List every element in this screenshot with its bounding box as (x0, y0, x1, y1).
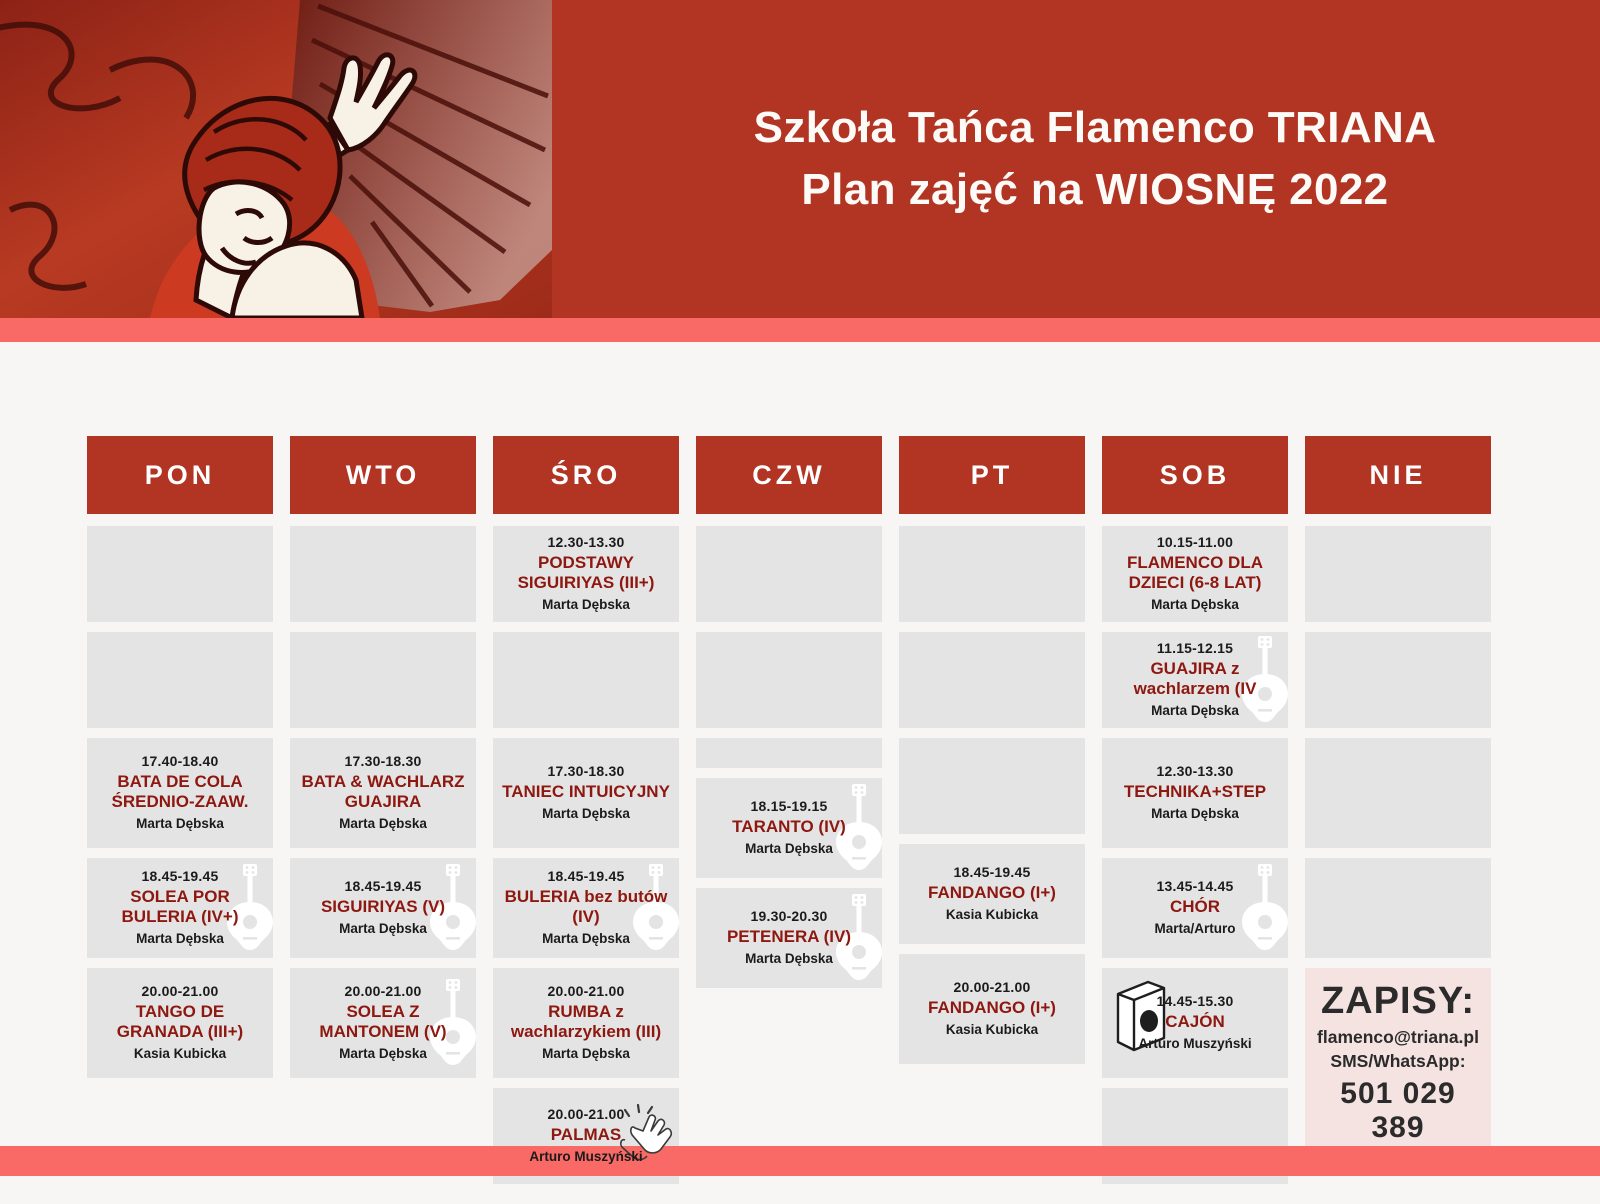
class-title: BATA DE COLA ŚREDNIO-ZAAW. (95, 772, 265, 812)
class-time: 18.15-19.15 (751, 798, 828, 814)
class-teacher: Marta Dębska (339, 1046, 427, 1061)
class-title: PALMAS (551, 1125, 622, 1145)
class-time: 12.30-13.30 (1157, 763, 1234, 779)
class-teacher: Marta Dębska (745, 841, 833, 856)
class-title: FANDANGO (I+) (928, 883, 1056, 903)
class-time: 20.00-21.00 (548, 1106, 625, 1122)
class-time: 17.40-18.40 (142, 753, 219, 769)
empty-slot (1305, 738, 1491, 848)
class-title: CAJÓN (1165, 1012, 1225, 1032)
class-slot[interactable]: 20.00-21.00FANDANGO (I+)Kasia Kubicka (899, 954, 1085, 1064)
class-title: SOLEA Z MANTONEM (V) (298, 1002, 468, 1042)
class-teacher: Marta Dębska (542, 1046, 630, 1061)
flamenco-dancer-illustration (0, 0, 552, 318)
day-column-pt: PT18.45-19.45FANDANGO (I+)Kasia Kubicka2… (899, 436, 1085, 1194)
class-teacher: Arturo Muszyński (529, 1149, 642, 1164)
class-teacher: Marta Dębska (745, 951, 833, 966)
class-slot[interactable]: 17.40-18.40BATA DE COLA ŚREDNIO-ZAAW.Mar… (87, 738, 273, 848)
class-slot[interactable]: 20.00-21.00SOLEA Z MANTONEM (V)Marta Dęb… (290, 968, 476, 1078)
class-title: PETENERA (IV) (727, 927, 851, 947)
class-slot[interactable]: 18.45-19.45SOLEA POR BULERIA (IV+)Marta … (87, 858, 273, 958)
class-title: FLAMENCO DLA DZIECI (6-8 LAT) (1110, 553, 1280, 593)
class-time: 20.00-21.00 (142, 983, 219, 999)
class-time: 20.00-21.00 (954, 979, 1031, 995)
class-teacher: Marta Dębska (339, 921, 427, 936)
class-teacher: Marta Dębska (1151, 806, 1239, 821)
schedule-subtitle: Plan zajęć na WIOSNĘ 2022 (801, 166, 1388, 214)
day-header-pt[interactable]: PT (899, 436, 1085, 514)
class-slot[interactable]: 10.15-11.00FLAMENCO DLA DZIECI (6-8 LAT)… (1102, 526, 1288, 622)
class-time: 20.00-21.00 (345, 983, 422, 999)
signup-sms-label: SMS/WhatsApp: (1330, 1050, 1465, 1074)
class-teacher: Marta Dębska (542, 806, 630, 821)
class-teacher: Marta/Arturo (1154, 921, 1235, 936)
class-title: TECHNIKA+STEP (1124, 782, 1266, 802)
class-slot[interactable]: 18.45-19.45FANDANGO (I+)Kasia Kubicka (899, 844, 1085, 944)
class-title: TANIEC INTUICYJNY (502, 782, 670, 802)
guitar-icon (1234, 862, 1288, 954)
class-teacher: Kasia Kubicka (946, 907, 1038, 922)
coral-divider-top (0, 318, 1600, 342)
day-header-czw[interactable]: CZW (696, 436, 882, 514)
coral-divider-bottom (0, 1146, 1600, 1176)
hero-title-block: Szkoła Tańca Flamenco TRIANA Plan zajęć … (600, 0, 1590, 318)
class-slot[interactable]: 18.45-19.45SIGUIRIYAS (V)Marta Dębska (290, 858, 476, 958)
class-time: 12.30-13.30 (548, 534, 625, 550)
class-time: 18.45-19.45 (142, 868, 219, 884)
class-slot[interactable]: 11.15-12.15GUAJIRA z wachlarzem (IVMarta… (1102, 632, 1288, 728)
day-column-śro: ŚRO12.30-13.30PODSTAWY SIGUIRIYAS (III+)… (493, 436, 679, 1194)
class-title: TARANTO (IV) (732, 817, 846, 837)
empty-slot (1305, 526, 1491, 622)
weekly-schedule-grid: PON17.40-18.40BATA DE COLA ŚREDNIO-ZAAW.… (87, 436, 1491, 1194)
day-header-śro[interactable]: ŚRO (493, 436, 679, 514)
class-slot[interactable]: 18.45-19.45BULERIA bez butów (IV)Marta D… (493, 858, 679, 958)
class-teacher: Kasia Kubicka (134, 1046, 226, 1061)
class-title: PODSTAWY SIGUIRIYAS (III+) (501, 553, 671, 593)
empty-slot (290, 526, 476, 622)
class-time: 19.30-20.30 (751, 908, 828, 924)
empty-slot (1305, 632, 1491, 728)
class-title: SIGUIRIYAS (V) (321, 897, 445, 917)
day-header-nie[interactable]: NIE (1305, 436, 1491, 514)
empty-slot (87, 526, 273, 622)
empty-slot (1305, 858, 1491, 958)
empty-slot (899, 526, 1085, 622)
class-teacher: Kasia Kubicka (946, 1022, 1038, 1037)
class-slot[interactable]: 12.30-13.30PODSTAWY SIGUIRIYAS (III+)Mar… (493, 526, 679, 622)
empty-slot (696, 738, 882, 768)
day-column-nie: NIEZAPISY:flamenco@triana.plSMS/WhatsApp… (1305, 436, 1491, 1194)
class-teacher: Marta Dębska (136, 931, 224, 946)
empty-slot (696, 526, 882, 622)
class-slot[interactable]: 20.00-21.00TANGO DE GRANADA (III+)Kasia … (87, 968, 273, 1078)
class-title: SOLEA POR BULERIA (IV+) (95, 887, 265, 927)
class-time: 11.15-12.15 (1157, 640, 1233, 656)
empty-slot (899, 632, 1085, 728)
class-title: GUAJIRA z wachlarzem (IV (1110, 659, 1280, 699)
empty-slot (696, 632, 882, 728)
signup-phone[interactable]: 501 029 389 (1313, 1077, 1483, 1145)
contact-card: ZAPISY:flamenco@triana.plSMS/WhatsApp:50… (1305, 968, 1491, 1161)
class-time: 10.15-11.00 (1157, 534, 1233, 550)
class-teacher: Marta Dębska (339, 816, 427, 831)
class-teacher: Marta Dębska (542, 597, 630, 612)
class-title: BULERIA bez butów (IV) (501, 887, 671, 927)
schedule-poster: Szkoła Tańca Flamenco TRIANA Plan zajęć … (0, 0, 1600, 1204)
empty-slot (493, 632, 679, 728)
class-time: 17.30-18.30 (345, 753, 422, 769)
empty-slot (290, 632, 476, 728)
class-teacher: Marta Dębska (136, 816, 224, 831)
class-slot[interactable]: 18.15-19.15TARANTO (IV)Marta Dębska (696, 778, 882, 878)
empty-slot (899, 738, 1085, 834)
class-time: 18.45-19.45 (345, 878, 422, 894)
day-column-pon: PON17.40-18.40BATA DE COLA ŚREDNIO-ZAAW.… (87, 436, 273, 1194)
day-column-wto: WTO17.30-18.30BATA & WACHLARZ GUAJIRAMar… (290, 436, 476, 1194)
class-time: 13.45-14.45 (1157, 878, 1234, 894)
class-teacher: Marta Dębska (542, 931, 630, 946)
class-time: 20.00-21.00 (548, 983, 625, 999)
class-teacher: Arturo Muszyński (1138, 1036, 1251, 1051)
signup-email[interactable]: flamenco@triana.pl (1317, 1026, 1479, 1050)
class-title: RUMBA z wachlarzykiem (III) (501, 1002, 671, 1042)
class-time: 17.30-18.30 (548, 763, 625, 779)
class-time: 14.45-15.30 (1157, 993, 1234, 1009)
empty-slot (87, 632, 273, 728)
day-header-pon[interactable]: PON (87, 436, 273, 514)
class-slot[interactable]: 17.30-18.30TANIEC INTUICYJNYMarta Dębska (493, 738, 679, 848)
class-title: CHÓR (1170, 897, 1220, 917)
signup-heading: ZAPISY: (1321, 982, 1475, 1020)
class-slot[interactable]: 13.45-14.45CHÓRMarta/Arturo (1102, 858, 1288, 958)
class-time: 18.45-19.45 (954, 864, 1031, 880)
class-slot[interactable]: 14.45-15.30CAJÓNArturo Muszyński (1102, 968, 1288, 1078)
class-teacher: Marta Dębska (1151, 597, 1239, 612)
class-slot[interactable]: 17.30-18.30BATA & WACHLARZ GUAJIRAMarta … (290, 738, 476, 848)
day-column-sob: SOB10.15-11.00FLAMENCO DLA DZIECI (6-8 L… (1102, 436, 1288, 1194)
class-slot[interactable]: 19.30-20.30PETENERA (IV)Marta Dębska (696, 888, 882, 988)
class-time: 18.45-19.45 (548, 868, 625, 884)
class-slot[interactable]: 20.00-21.00RUMBA z wachlarzykiem (III)Ma… (493, 968, 679, 1078)
day-header-sob[interactable]: SOB (1102, 436, 1288, 514)
class-slot[interactable]: 12.30-13.30TECHNIKA+STEPMarta Dębska (1102, 738, 1288, 848)
day-column-czw: CZW18.15-19.15TARANTO (IV)Marta Dębska19… (696, 436, 882, 1194)
class-title: FANDANGO (I+) (928, 998, 1056, 1018)
hero-banner: Szkoła Tańca Flamenco TRIANA Plan zajęć … (0, 0, 1600, 318)
class-title: BATA & WACHLARZ GUAJIRA (298, 772, 468, 812)
class-title: TANGO DE GRANADA (III+) (95, 1002, 265, 1042)
class-teacher: Marta Dębska (1151, 703, 1239, 718)
day-header-wto[interactable]: WTO (290, 436, 476, 514)
school-name: Szkoła Tańca Flamenco TRIANA (754, 104, 1437, 152)
